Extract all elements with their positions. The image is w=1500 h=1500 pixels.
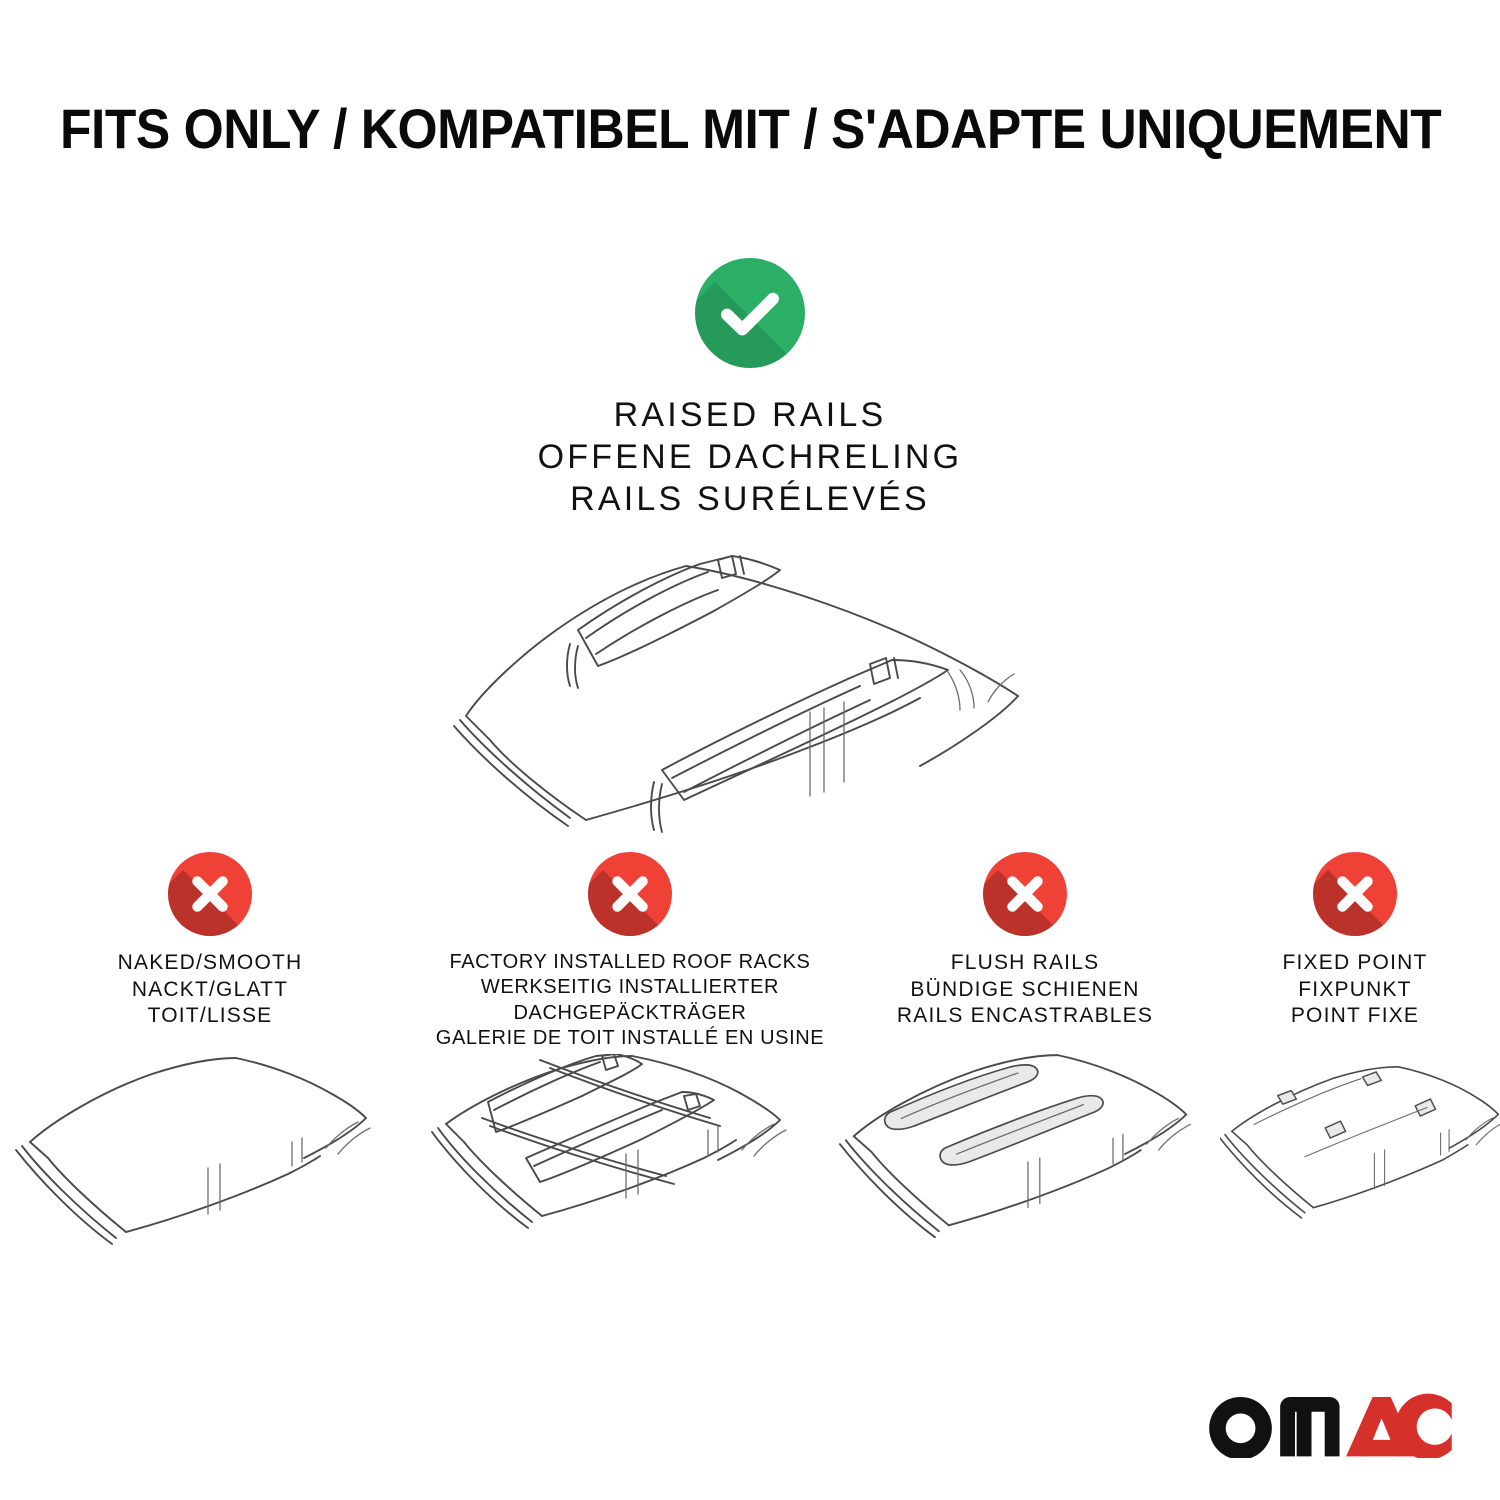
label-line-fr: POINT FIXE bbox=[1210, 1003, 1500, 1030]
label-line-de: FIXPUNKT bbox=[1210, 977, 1500, 1004]
car-roof-fixed-point-illustration bbox=[1220, 1046, 1500, 1276]
x-mark-glyph bbox=[983, 852, 1067, 936]
label-line-en: FACTORY INSTALLED ROOF RACKS bbox=[420, 950, 840, 975]
label-line-en: FLUSH RAILS bbox=[840, 950, 1210, 977]
omac-logo: OMAC bbox=[1204, 1392, 1452, 1458]
x-circle-icon bbox=[168, 852, 252, 936]
check-circle-icon bbox=[695, 258, 805, 368]
compatible-section: RAISED RAILS OFFENE DACHRELING RAILS SUR… bbox=[0, 258, 1500, 834]
compatible-label-line-fr: RAILS SURÉLEVÉS bbox=[0, 478, 1500, 520]
logo-letter-m bbox=[1280, 1397, 1339, 1456]
page-title: FITS ONLY / KOMPATIBEL MIT / S'ADAPTE UN… bbox=[60, 96, 1440, 161]
car-roof-naked-smooth-illustration bbox=[0, 1046, 420, 1276]
car-roof-factory-installed-racks-illustration bbox=[410, 1054, 840, 1286]
incompatible-item-fixed-point: FIXED POINT FIXPUNKT POINT FIXE bbox=[1210, 852, 1500, 1286]
label-line-en: NAKED/SMOOTH bbox=[0, 950, 420, 977]
incompatible-item-flush-rails: FLUSH RAILS BÜNDIGE SCHIENEN RAILS ENCAS… bbox=[840, 852, 1210, 1286]
label-line-en: FIXED POINT bbox=[1210, 950, 1500, 977]
x-mark-glyph bbox=[168, 852, 252, 936]
compatible-label: RAISED RAILS OFFENE DACHRELING RAILS SUR… bbox=[0, 394, 1500, 520]
logo-letter-c bbox=[1395, 1394, 1452, 1458]
check-mark-glyph bbox=[695, 258, 805, 368]
incompatible-label-factory-racks: FACTORY INSTALLED ROOF RACKS WERKSEITIG … bbox=[420, 950, 840, 1052]
label-line-de: NACKT/GLATT bbox=[0, 977, 420, 1004]
incompatible-section: NAKED/SMOOTH NACKT/GLATT TOIT/LISSE bbox=[0, 852, 1500, 1286]
label-line-de-1: WERKSEITIG INSTALLIERTER bbox=[420, 975, 840, 1000]
logo-letter-o bbox=[1209, 1397, 1272, 1458]
incompatible-label-naked-smooth: NAKED/SMOOTH NACKT/GLATT TOIT/LISSE bbox=[0, 950, 420, 1030]
x-mark-glyph bbox=[588, 852, 672, 936]
incompatible-label-fixed-point: FIXED POINT FIXPUNKT POINT FIXE bbox=[1210, 950, 1500, 1030]
x-circle-icon bbox=[1313, 852, 1397, 936]
incompatible-item-naked-smooth: NAKED/SMOOTH NACKT/GLATT TOIT/LISSE bbox=[0, 852, 420, 1286]
incompatible-item-factory-racks: FACTORY INSTALLED ROOF RACKS WERKSEITIG … bbox=[420, 852, 840, 1286]
x-circle-icon bbox=[983, 852, 1067, 936]
label-line-fr: RAILS ENCASTRABLES bbox=[840, 1003, 1210, 1030]
incompatible-label-flush-rails: FLUSH RAILS BÜNDIGE SCHIENEN RAILS ENCAS… bbox=[840, 950, 1210, 1030]
label-line-fr: GALERIE DE TOIT INSTALLÉ EN USINE bbox=[420, 1026, 840, 1051]
label-line-de-2: DACHGEPÄCKTRÄGER bbox=[420, 1001, 840, 1026]
compatible-label-line-en: RAISED RAILS bbox=[0, 394, 1500, 436]
fitment-infographic: FITS ONLY / KOMPATIBEL MIT / S'ADAPTE UN… bbox=[0, 0, 1500, 1500]
car-roof-with-raised-rails-illustration bbox=[0, 534, 1500, 834]
compatible-label-line-de: OFFENE DACHRELING bbox=[0, 436, 1500, 478]
page-header: FITS ONLY / KOMPATIBEL MIT / S'ADAPTE UN… bbox=[0, 96, 1500, 161]
car-roof-flush-rails-illustration bbox=[834, 1046, 1210, 1276]
label-line-de: BÜNDIGE SCHIENEN bbox=[840, 977, 1210, 1004]
label-line-fr: TOIT/LISSE bbox=[0, 1003, 420, 1030]
x-circle-icon bbox=[588, 852, 672, 936]
x-mark-glyph bbox=[1313, 852, 1397, 936]
